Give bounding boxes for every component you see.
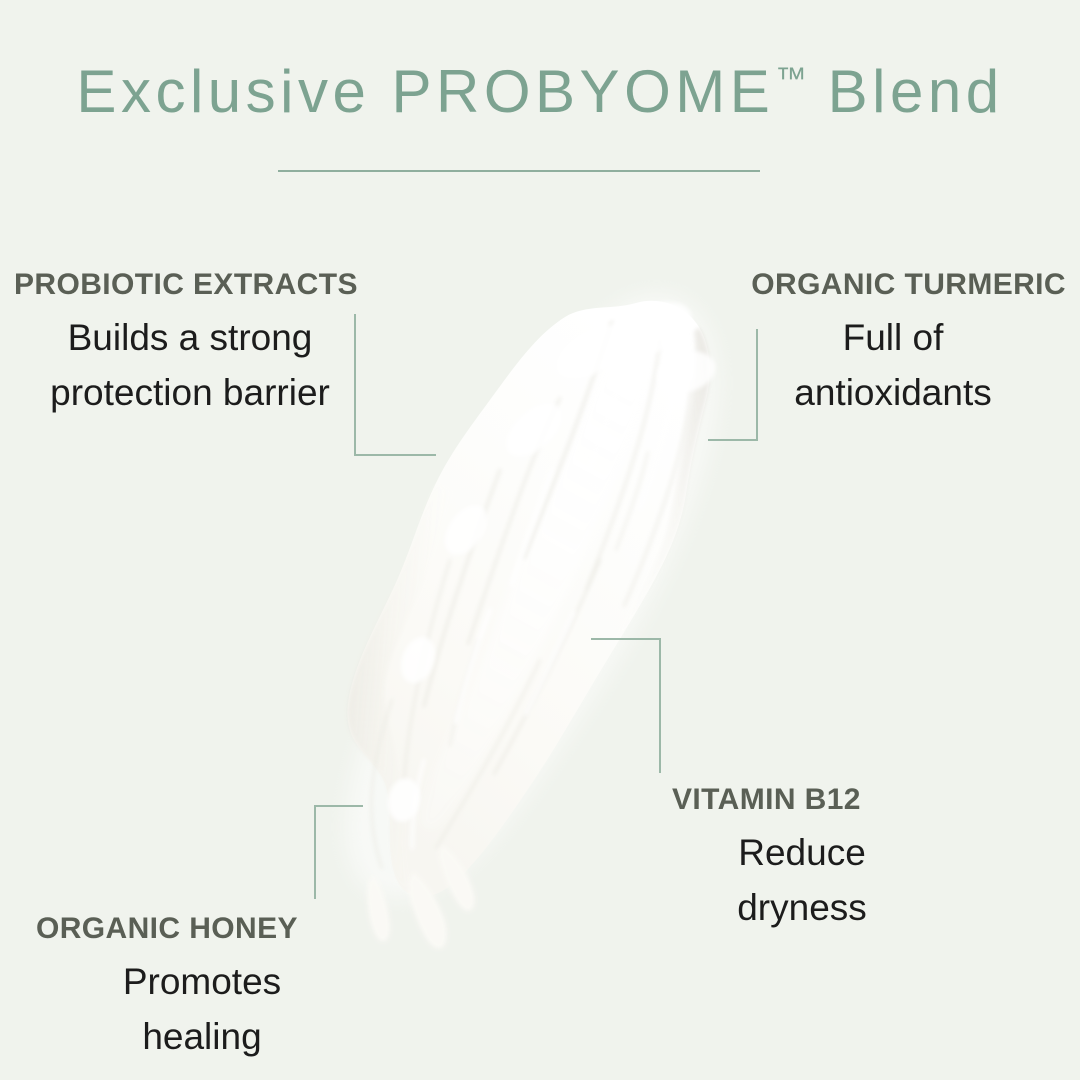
callout-description-organic-honey: Promotes healing [36,955,396,1065]
callout-description-probiotic-extracts: Builds a strong protection barrier [14,311,414,421]
title-divider [278,170,760,172]
callout-heading-organic-turmeric: ORGANIC TURMERIC [660,268,1066,301]
title-prefix: Exclusive PROBYOME [76,58,774,125]
leader-organic-honey [315,806,362,898]
callout-description-line-1: Reduce [672,826,932,881]
title-block: Exclusive PROBYOME™ Blend [0,60,1080,123]
callout-description-line-2: dryness [672,881,932,936]
callout-description-line-2: protection barrier [14,366,366,421]
leader-vitamin-b12 [592,639,660,772]
callout-heading-probiotic-extracts: PROBIOTIC EXTRACTS [14,268,414,301]
callout-heading-organic-honey: ORGANIC HONEY [36,912,396,945]
page-title: Exclusive PROBYOME™ Blend [0,60,1080,123]
callout-organic-turmeric: ORGANIC TURMERIC Full of antioxidants [660,268,1066,421]
callout-description-line-1: Promotes [36,955,368,1010]
callout-probiotic-extracts: PROBIOTIC EXTRACTS Builds a strong prote… [14,268,414,421]
callout-description-vitamin-b12: Reduce dryness [672,826,1052,936]
callout-description-line-2: healing [36,1010,368,1065]
trademark-symbol: ™ [775,61,806,96]
callout-organic-honey: ORGANIC HONEY Promotes healing [36,912,396,1065]
callout-description-line-2: antioxidants [720,366,1066,421]
callout-vitamin-b12: VITAMIN B12 Reduce dryness [672,783,1052,936]
callout-description-line-1: Full of [720,311,1066,366]
callout-heading-vitamin-b12: VITAMIN B12 [672,783,1052,816]
callout-description-line-1: Builds a strong [14,311,366,366]
callout-description-organic-turmeric: Full of antioxidants [660,311,1066,421]
infographic-canvas: Exclusive PROBYOME™ Blend PROBIOTIC EXTR… [0,0,1080,1080]
title-suffix: Blend [806,58,1003,125]
